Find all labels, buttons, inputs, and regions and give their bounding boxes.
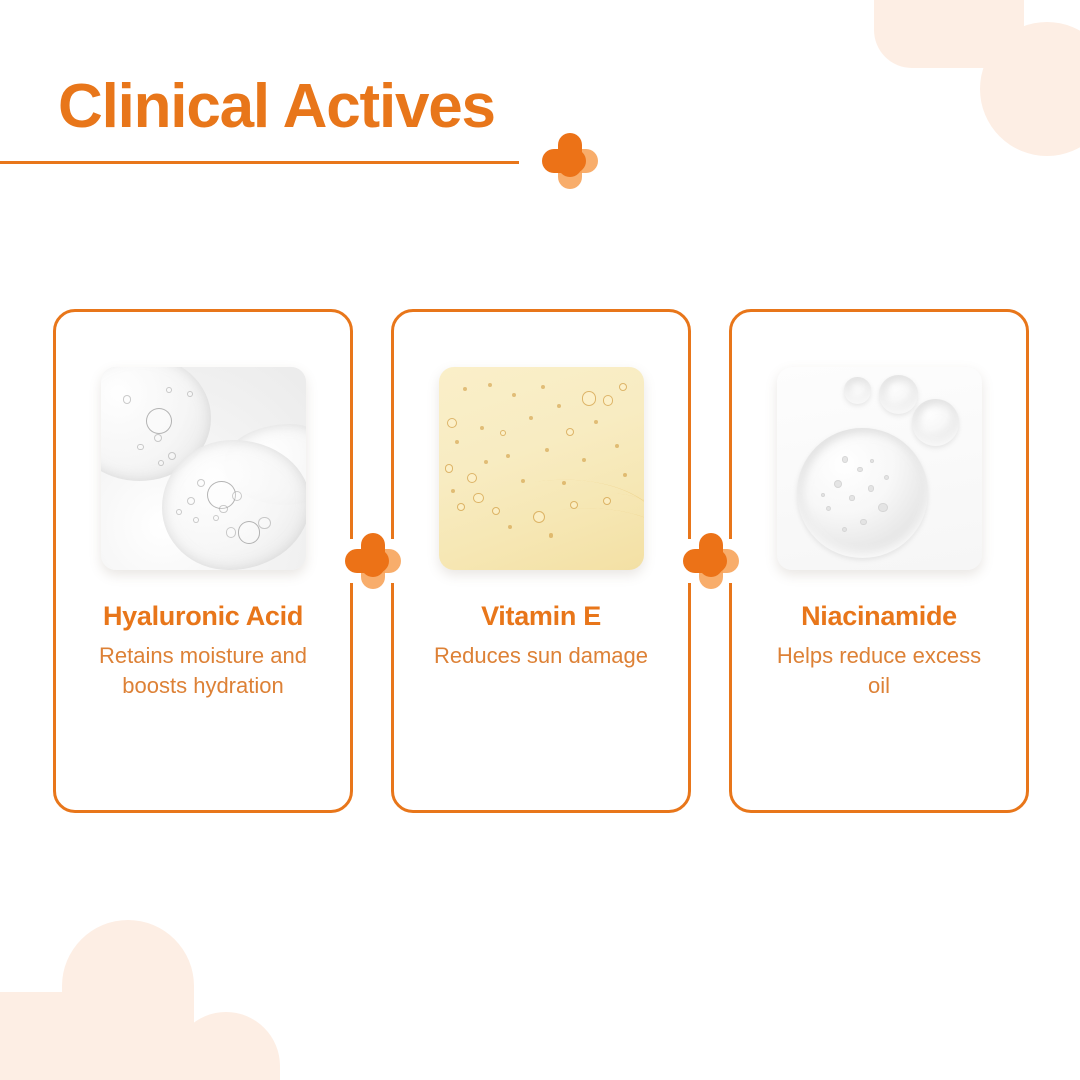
oil-bubble [603,395,613,405]
active-card-hyaluronic-acid[interactable]: Hyaluronic Acid Retains moisture and boo… [53,309,353,813]
oil-bubble [603,497,611,505]
oil-bubble [445,464,453,472]
droplet-bubble [860,519,867,525]
plus-dark-vertical-arm [699,533,724,577]
card-description: Retains moisture and boosts hydration [88,641,318,701]
gel-bubble [137,444,143,450]
poster-canvas: Clinical Actives [0,0,1080,1080]
oil-dot [521,479,525,483]
gel-bubble [187,497,195,505]
plus-cross-icon [683,533,739,589]
oil-texture-background [439,367,644,570]
droplet-bubble [842,456,849,462]
oil-dot [541,385,545,389]
large-droplet [797,428,928,558]
vitamin-e-oil-texture-thumbnail [439,367,644,570]
oil-dot [512,393,516,397]
droplet-bubble [884,475,889,480]
droplet-bubble [849,495,854,500]
plus-dark-vertical-arm [361,533,386,577]
plus-dark-vertical-arm [558,133,583,177]
oil-dot [480,426,484,430]
oil-bubble [570,501,578,509]
oil-bubble [582,391,596,405]
gel-bubble [123,395,131,403]
droplet-bubble [870,459,874,463]
plus-cross-icon [345,533,401,589]
gel-bubble [219,505,227,513]
small-droplet [844,377,871,403]
oil-dot [506,454,510,458]
oil-dot [463,387,467,391]
gel-bubble [232,491,242,501]
oil-dot [549,533,553,537]
droplet-bubble [842,527,847,532]
oil-bubble [500,430,506,436]
gel-bubble [154,434,162,442]
plus-cross-icon [542,133,598,189]
gel-bubble [238,521,261,543]
gel-blob-lower [162,440,306,570]
small-droplet [912,399,959,446]
active-card-niacinamide[interactable]: Niacinamide Helps reduce excess oil [729,309,1029,813]
droplet-texture-background [777,367,982,570]
card-title: Niacinamide [801,602,957,632]
gel-texture-background [101,367,306,570]
card-description: Reduces sun damage [434,641,648,671]
oil-dot [623,473,627,477]
oil-dot [615,444,619,448]
gel-bubble [226,527,236,537]
active-card-vitamin-e[interactable]: Vitamin E Reduces sun damage [391,309,691,813]
droplet-bubble [821,493,825,497]
droplet-bubble [857,467,862,472]
droplet-bubble [868,485,875,491]
oil-bubble [566,428,574,436]
oil-bubble [473,493,483,503]
oil-dot [484,460,488,464]
oil-dot [582,458,586,462]
droplet-bubble [834,480,842,488]
oil-dot [451,489,455,493]
droplet-bubble [826,506,831,511]
actives-card-grid: Hyaluronic Acid Retains moisture and boo… [0,309,1080,813]
oil-dot [557,404,561,408]
hyaluronic-gel-texture-thumbnail [101,367,306,570]
gel-bubble [258,517,270,529]
oil-dot [594,420,598,424]
oil-dot [488,383,492,387]
niacinamide-droplets-texture-thumbnail [777,367,982,570]
gel-bubble [146,408,173,434]
oil-bubble [467,473,477,483]
card-description: Helps reduce excess oil [764,641,994,701]
page-title: Clinical Actives [58,76,495,138]
oil-bubble [447,418,457,428]
card-title: Vitamin E [481,602,601,632]
oil-dot [562,481,566,485]
title-divider [0,161,519,164]
small-droplet [879,375,918,414]
oil-dot [529,416,533,420]
oil-dot [545,448,549,452]
oil-dot [455,440,459,444]
card-title: Hyaluronic Acid [103,602,303,632]
oil-bubble [619,383,627,391]
droplet-bubble [878,503,887,512]
gel-bubble [197,479,205,487]
